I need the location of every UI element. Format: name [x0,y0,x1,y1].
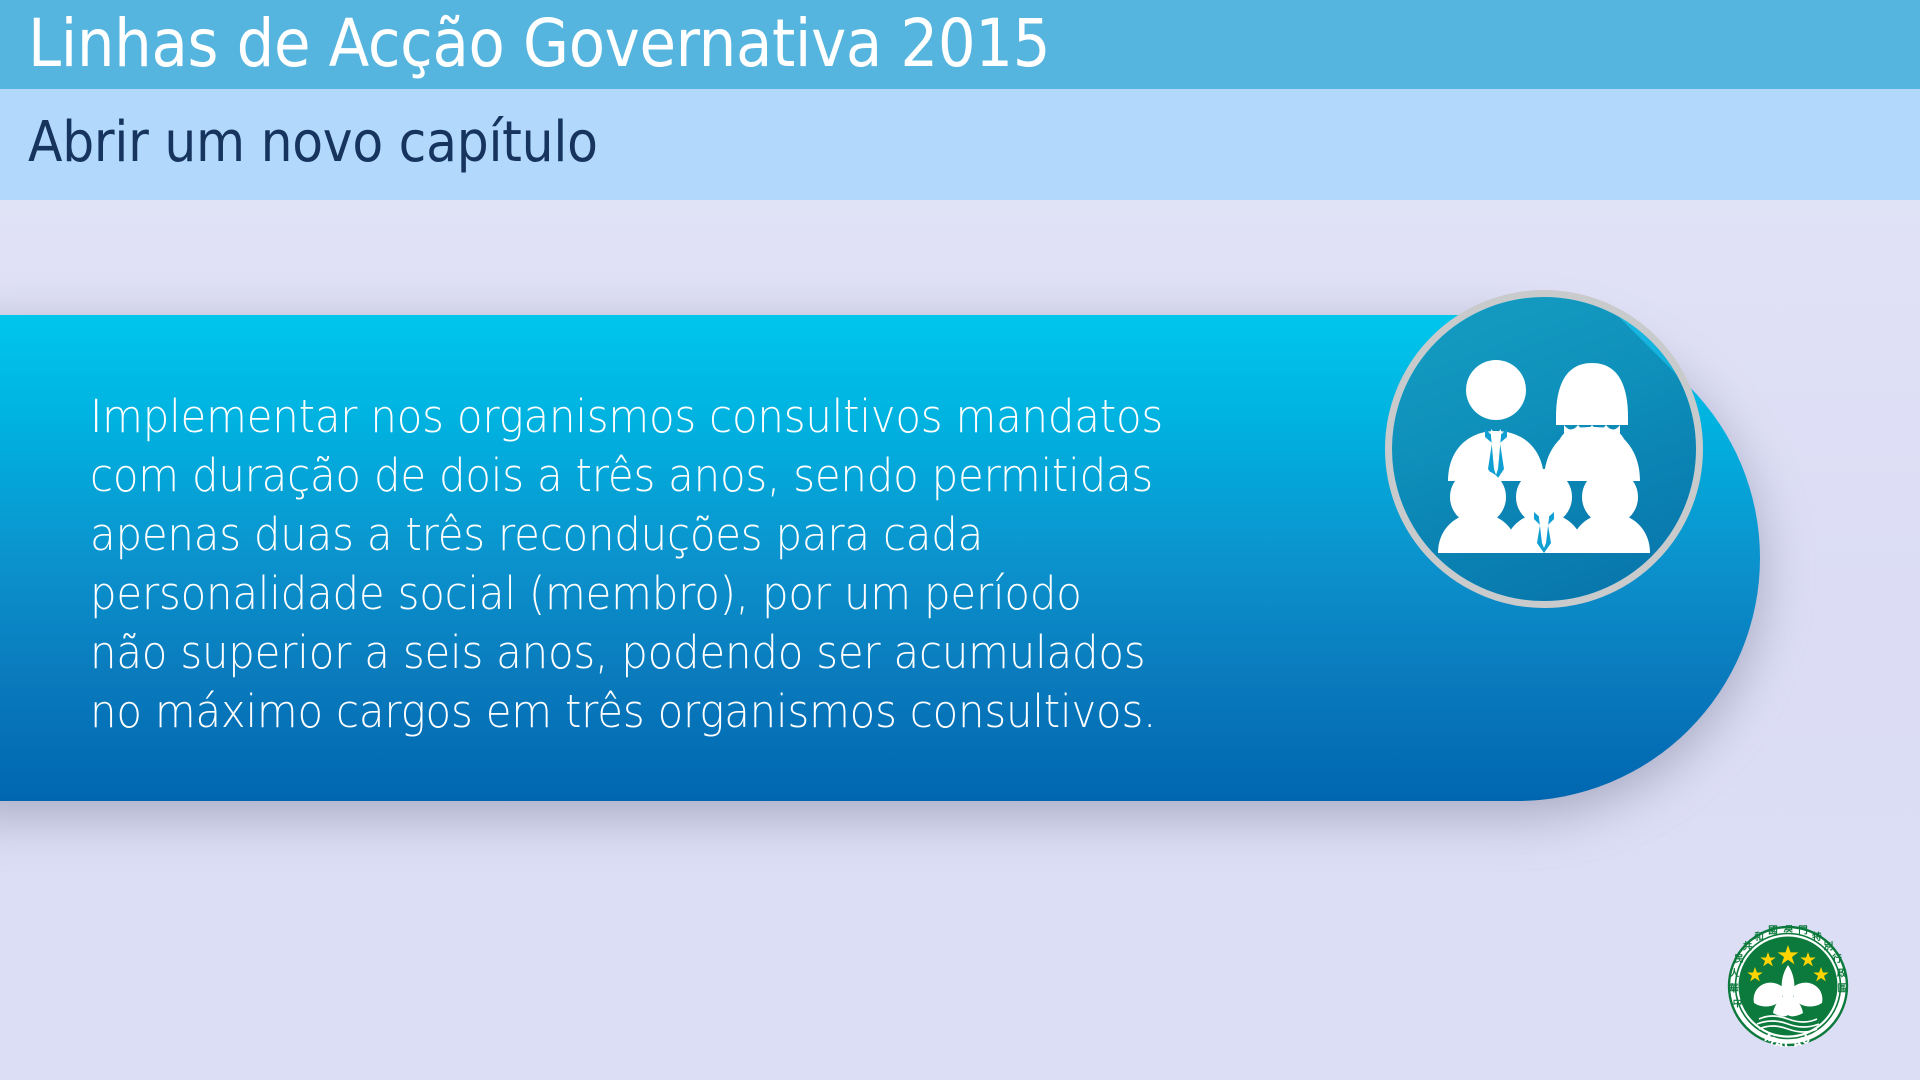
banner-paragraph: Implementar nos organismos consultivos m… [90,387,1048,741]
svg-text:人: 人 [1730,968,1740,980]
banner-text-line: com duração de dois a três anos, sendo p… [90,446,1048,505]
banner-text-line: apenas duas a três reconduções para cada [90,505,1048,564]
page-subtitle: Abrir um novo capítulo [28,88,598,198]
svg-text:別: 別 [1823,941,1834,953]
svg-text:特: 特 [1812,931,1822,943]
svg-text:行: 行 [1831,953,1842,965]
svg-text:國: 國 [1768,926,1778,937]
svg-text:和: 和 [1753,931,1764,943]
banner-text-line: no máximo cargos em três organismos cons… [90,682,1048,741]
page-title: Linhas de Acção Governativa 2015 [28,0,1050,90]
svg-text:民: 民 [1734,954,1744,965]
badge-ring [1385,290,1703,608]
svg-text:區: 區 [1837,984,1847,995]
banner-text-line: Implementar nos organismos consultivos m… [90,387,1048,446]
svg-text:政: 政 [1837,968,1847,980]
svg-text:門: 門 [1798,926,1808,937]
icon-badge [1385,290,1703,608]
svg-text:華: 華 [1729,983,1739,995]
svg-text:中: 中 [1733,997,1743,1009]
banner-text-line: não superior a seis anos, podendo ser ac… [90,623,1048,682]
group-of-people-icon [1438,357,1650,553]
banner-text-line: personalidade social (membro), por um pe… [90,564,1048,623]
macau-sar-emblem: 中 華 人 民 共 和 國 澳 門 特 別 行 政 區 [1727,925,1849,1047]
slide-canvas: Linhas de Acção Governativa 2015 Abrir u… [0,0,1920,1080]
macau-sar-emblem-icon: 中 華 人 民 共 和 國 澳 門 特 別 行 政 區 [1727,925,1849,1047]
svg-text:共: 共 [1743,941,1753,953]
svg-text:澳: 澳 [1783,925,1793,935]
